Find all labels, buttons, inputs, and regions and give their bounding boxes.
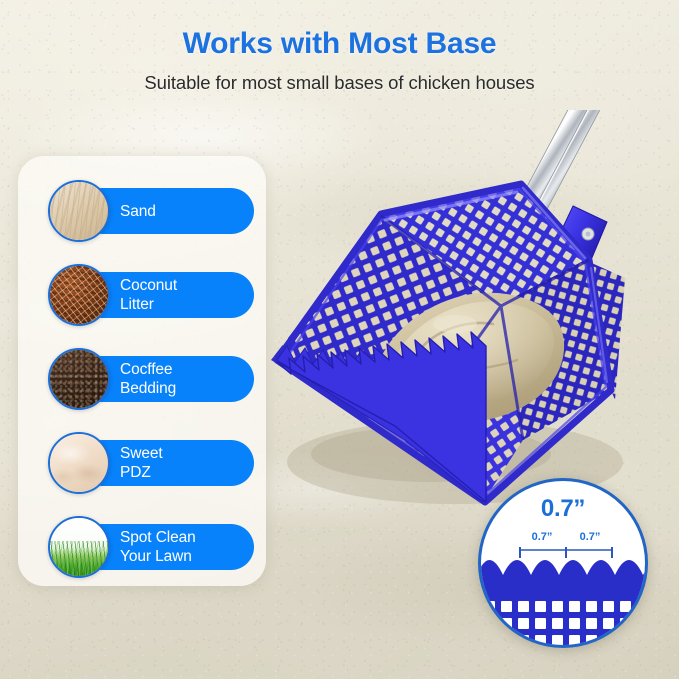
tooth-spacing-callout: 0.7” 0.7” 0.7” <box>478 478 648 648</box>
list-item-label: Cocffee Bedding <box>120 348 252 410</box>
sand-texture-icon <box>48 180 110 242</box>
list-item[interactable]: Coconut Litter <box>48 264 254 326</box>
product-marketing-image: Works with Most Base Suitable for most s… <box>0 0 679 679</box>
list-item[interactable]: Cocffee Bedding <box>48 348 254 410</box>
product-image <box>255 110 679 510</box>
list-item-label: Coconut Litter <box>120 264 252 326</box>
list-item[interactable]: Sweet PDZ <box>48 432 254 494</box>
callout-title: 0.7” <box>481 495 645 523</box>
list-item[interactable]: Sand <box>48 180 254 242</box>
coffee-bedding-texture-icon <box>48 348 110 410</box>
list-item-label: Sand <box>120 180 252 242</box>
list-item-label: Sweet PDZ <box>120 432 252 494</box>
lawn-grass-texture-icon <box>48 516 110 578</box>
sweet-pdz-texture-icon <box>48 432 110 494</box>
page-title: Works with Most Base <box>0 27 679 61</box>
base-types-panel: Sand Coconut Litter Cocffee Bedding Swee… <box>18 156 266 586</box>
coconut-litter-texture-icon <box>48 264 110 326</box>
page-subtitle: Suitable for most small bases of chicken… <box>0 72 679 94</box>
tooth-profile-graphic <box>481 547 648 647</box>
list-item[interactable]: Spot Clean Your Lawn <box>48 516 254 578</box>
list-item-label: Spot Clean Your Lawn <box>120 516 252 578</box>
